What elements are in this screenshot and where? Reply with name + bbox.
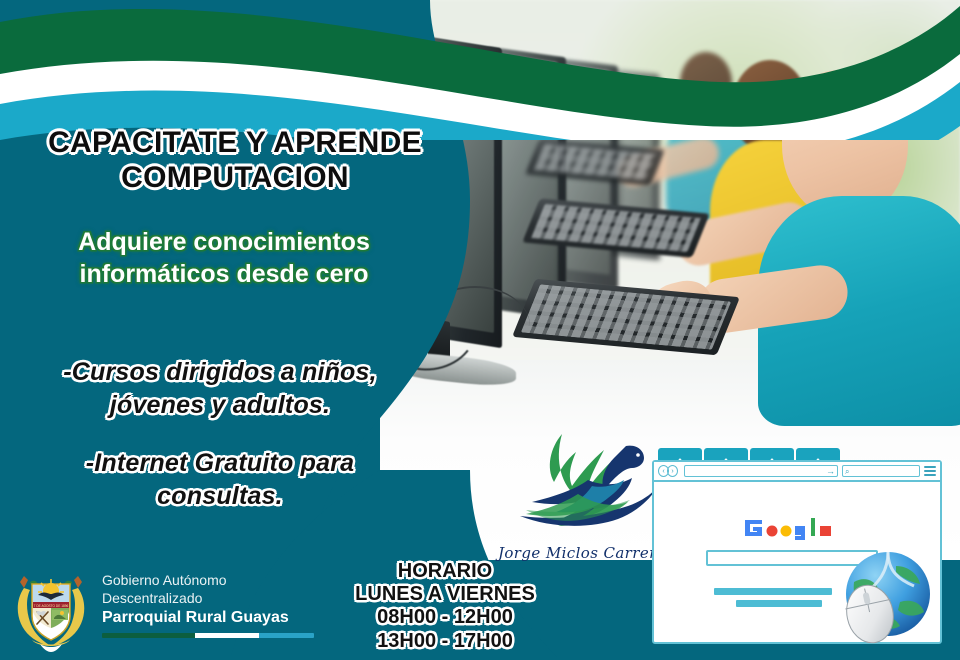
search-icon: ⌕ — [845, 466, 849, 478]
schedule-days: LUNES A VIERNES — [330, 583, 560, 606]
browser-mockup: ‹ › → ⌕ — [652, 448, 942, 644]
browser-search-input[interactable]: ⌕ — [842, 465, 920, 477]
schedule-block: HORARIO LUNES A VIERNES 08H00 - 12H00 13… — [330, 560, 560, 653]
bird-logo-name: Jorge Miclos Carrera — [492, 544, 672, 562]
subheadline: Adquiere conocimientos informáticos desd… — [14, 226, 434, 290]
result-line — [714, 588, 832, 595]
coat-of-arms-icon: 7 DE AGOSTO DE 1896 — [10, 558, 92, 652]
address-bar-input[interactable]: → — [684, 465, 838, 477]
schedule-morning: 08H00 - 12H00 — [330, 606, 560, 629]
bullet-line-1: -Cursos dirigidos a niños, — [10, 356, 430, 389]
result-line — [736, 600, 822, 607]
gov-line-3: Parroquial Rural Guayas — [102, 608, 314, 628]
forward-icon[interactable]: › — [667, 465, 678, 477]
google-logo — [654, 516, 940, 538]
globe-mouse-icon — [830, 548, 942, 644]
accent-bar-blue — [259, 633, 314, 638]
bullet-line-3: -Internet Gratuito para — [10, 447, 430, 480]
feature-list: -Cursos dirigidos a niños, jóvenes y adu… — [10, 356, 430, 512]
browser-nav-buttons[interactable]: ‹ › — [658, 465, 680, 477]
bullet-line-4: consultas. — [10, 480, 430, 513]
accent-bar-green — [102, 633, 195, 638]
poster-canvas: CAPACITATE Y APRENDE COMPUTACION Adquier… — [0, 0, 960, 660]
page-title: CAPACITATE Y APRENDE COMPUTACION — [0, 126, 470, 196]
bullet-spacer — [10, 421, 430, 447]
browser-toolbar: ‹ › → ⌕ — [654, 462, 940, 482]
government-text: Gobierno Autónomo Descentralizado Parroq… — [102, 572, 314, 637]
accent-bar-white — [195, 633, 259, 638]
government-accent-bar — [102, 633, 314, 638]
go-icon[interactable]: → — [826, 465, 835, 477]
menu-icon[interactable] — [924, 466, 936, 476]
keyboard-keys — [531, 204, 701, 252]
subheadline-line-1: Adquiere conocimientos — [14, 226, 434, 258]
keyboard-keys — [521, 284, 731, 349]
bullet-line-2: jóvenes y adultos. — [10, 389, 430, 422]
crest-motto: 7 DE AGOSTO DE 1896 — [34, 604, 69, 608]
schedule-afternoon: 13H00 - 17H00 — [330, 630, 560, 653]
headline-line-2: COMPUTACION — [0, 161, 470, 196]
gov-line-2: Descentralizado — [102, 590, 314, 608]
wave-ribbon — [0, 0, 960, 140]
bird-logo-icon — [492, 424, 672, 544]
keyboard-keys — [534, 144, 656, 180]
bird-logo: Jorge Miclos Carrera — [492, 424, 672, 564]
government-branding: 7 DE AGOSTO DE 1896 Gobierno Autónomo De… — [10, 558, 314, 652]
headline-line-1: CAPACITATE Y APRENDE — [0, 126, 470, 161]
gov-line-1: Gobierno Autónomo — [102, 572, 314, 590]
subheadline-line-2: informáticos desde cero — [14, 258, 434, 290]
